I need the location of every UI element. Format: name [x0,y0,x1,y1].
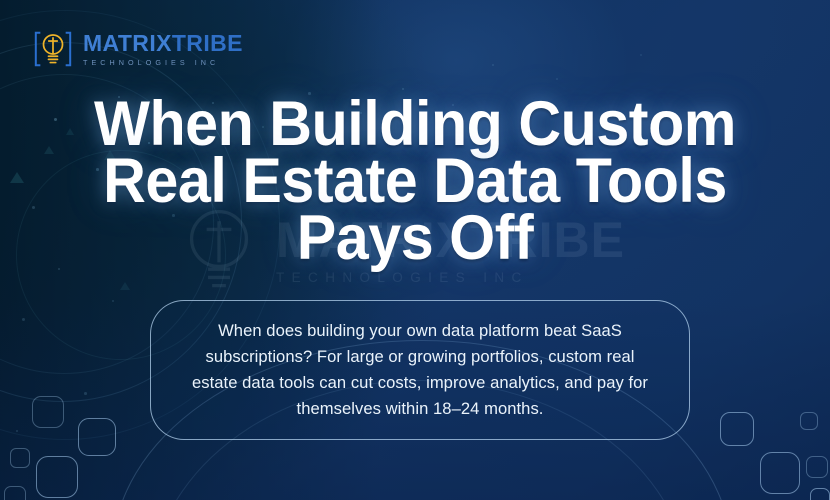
decor-rounded-square [4,486,26,500]
brand-name-part2: TRIBE [172,30,243,56]
decor-rounded-square [810,488,830,500]
brand-logo[interactable]: MATRIXTRIBE TECHNOLOGIES INC [32,30,243,68]
brand-text: MATRIXTRIBE TECHNOLOGIES INC [83,32,243,67]
lightbulb-in-brackets-icon [32,30,74,68]
particle-dot [16,430,18,432]
callout-box: When does building your own data platfor… [150,300,690,440]
particle-dot [84,392,87,395]
page-title: When Building Custom Real Estate Data To… [0,96,830,267]
particle-dot [556,78,558,80]
decor-rounded-square [78,418,116,456]
particle-dot [58,268,60,270]
particle-dot [492,64,494,66]
brand-tagline: TECHNOLOGIES INC [83,58,243,67]
decor-rounded-square [760,452,800,494]
brand-name-part1: MATRIX [83,30,172,56]
poster-canvas: MATRIXTRIBE TECHNOLOGIES INC MATRIXTRIBE… [0,0,830,500]
particle-dot [112,300,114,302]
accent-triangle [120,282,130,290]
particle-dot [640,54,642,56]
headline-line-1: When Building Custom [79,96,750,153]
brand-name: MATRIXTRIBE [83,32,243,55]
headline-line-3: Pays Off [79,210,750,267]
decor-rounded-square [32,396,64,428]
decor-rounded-square [806,456,828,478]
decor-rounded-square [720,412,754,446]
callout-body: When does building your own data platfor… [181,318,659,422]
decor-rounded-square [10,448,30,468]
particle-dot [22,318,25,321]
decor-rounded-square [36,456,78,498]
decor-rounded-square [800,412,818,430]
headline-line-2: Real Estate Data Tools [79,153,750,210]
